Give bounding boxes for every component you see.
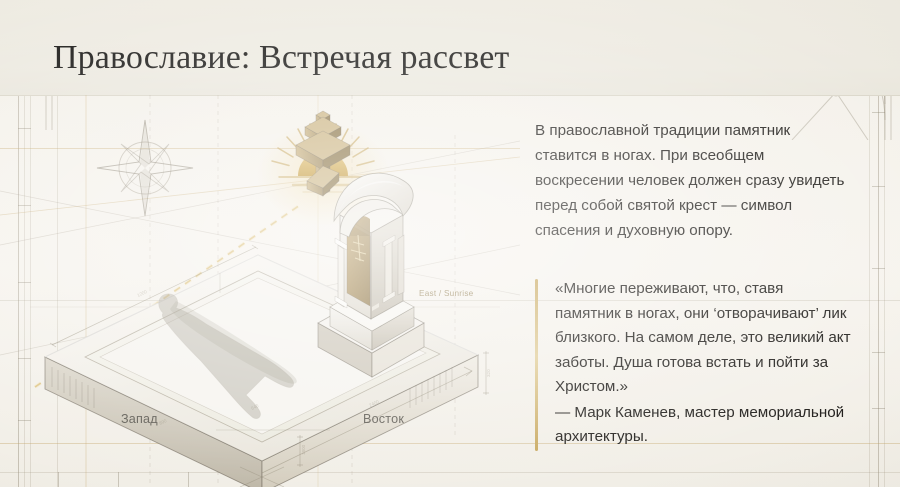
direction-label-east: Восток [363, 412, 404, 426]
svg-text:1200: 1200 [136, 289, 148, 298]
slide-root: Православие: Встречая рассвет [0, 0, 900, 487]
svg-text:1800: 1800 [301, 444, 306, 455]
sunrise-label: East / Sunrise [419, 289, 473, 298]
direction-label-west: Запад [121, 412, 158, 426]
quote-accent-bar [535, 279, 538, 451]
page-title: Православие: Встречая рассвет [53, 38, 509, 78]
quote-text: «Многие переживают, что, ставя памятник … [555, 277, 853, 400]
intro-paragraph: В православной традиции памятник ставитс… [535, 118, 855, 243]
svg-text:320: 320 [486, 369, 491, 377]
compass-rose-icon [97, 120, 193, 216]
quote-block: «Многие переживают, что, ставя памятник … [535, 277, 853, 450]
quote-attribution: — Марк Каменев, мастер мемориальной архи… [555, 401, 853, 450]
isometric-diagram: 1200 2400 320 1800 890 640 East / Sunris… [0, 95, 520, 487]
